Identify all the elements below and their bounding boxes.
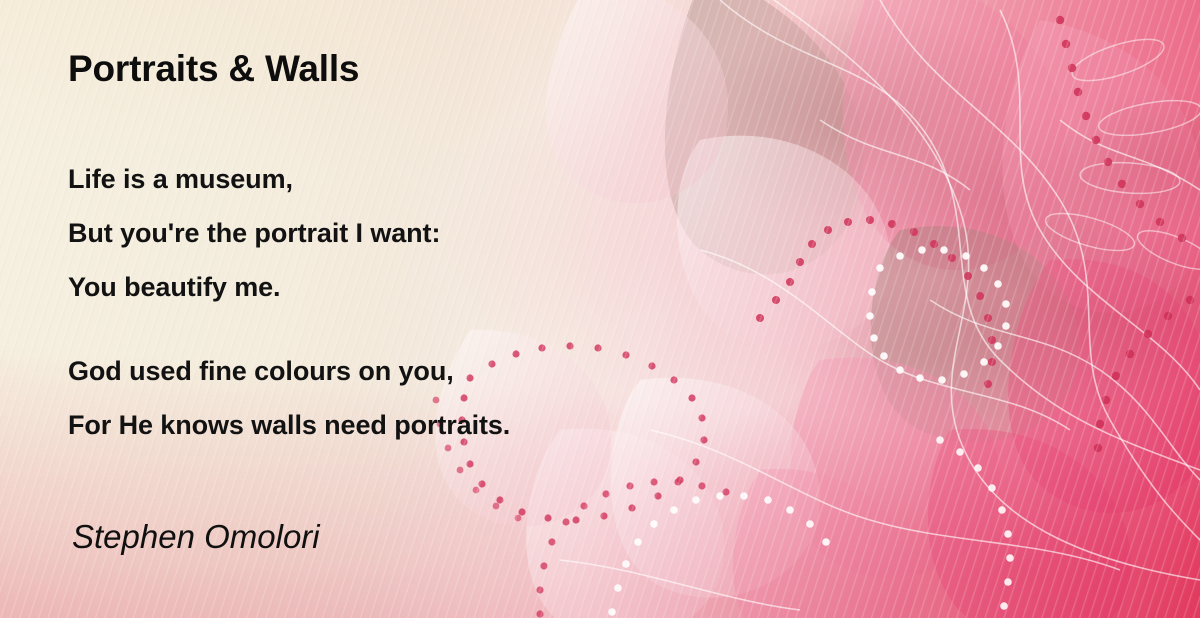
stanza: Life is a museum, But you're the portrai…	[68, 152, 510, 314]
page-title: Portraits & Walls	[68, 48, 359, 90]
poem-line: But you're the portrait I want:	[68, 206, 510, 260]
poem-text-block: Portraits & Walls Life is a museum, But …	[68, 0, 828, 618]
poem-line: God used fine colours on you,	[68, 344, 510, 398]
poem-line: Life is a museum,	[68, 152, 510, 206]
poem-line: For He knows walls need portraits.	[68, 398, 510, 452]
author-signature: Stephen Omolori	[72, 518, 320, 556]
poem-line: You beautify me.	[68, 260, 510, 314]
poem-card: Portraits & Walls Life is a museum, But …	[0, 0, 1200, 618]
poem-body: Life is a museum, But you're the portrai…	[68, 152, 510, 482]
stanza: God used fine colours on you, For He kno…	[68, 344, 510, 452]
